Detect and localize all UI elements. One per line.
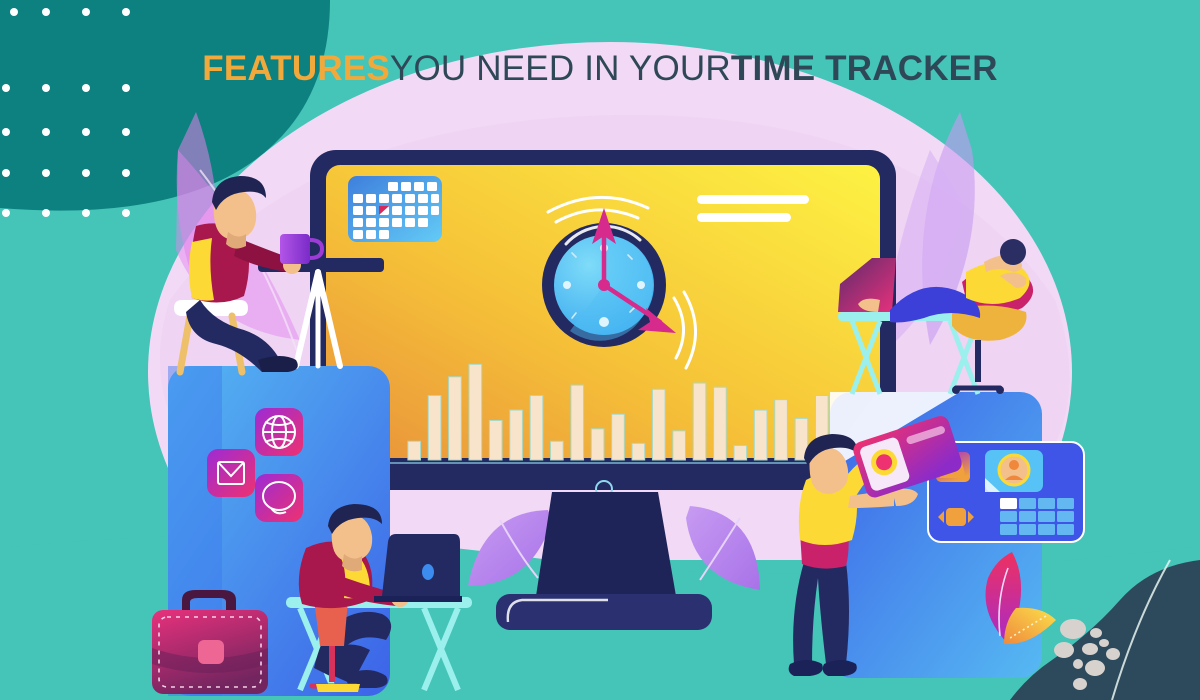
top-band-teal	[330, 0, 1200, 20]
chart-bar	[775, 400, 788, 460]
illustration-canvas: FEATURES YOU NEED IN YOUR TIME TRACKER	[0, 0, 1200, 700]
relax-person-head	[1000, 239, 1026, 265]
title-part-time-tracker: TIME TRACKER	[731, 44, 998, 94]
briefcase-clasp	[198, 640, 224, 664]
monitor-neck	[536, 492, 676, 596]
app-icon-chat[interactable]	[255, 474, 303, 522]
chart-bar	[693, 383, 706, 460]
page-title: FEATURES YOU NEED IN YOUR TIME TRACKER	[0, 44, 1200, 94]
chart-bar	[714, 387, 727, 460]
chart-bar	[571, 385, 584, 460]
chart-bar	[754, 410, 767, 460]
chart-bar	[612, 414, 625, 460]
app-icon-globe[interactable]	[255, 408, 303, 456]
coffee-person-shirt-accent	[189, 238, 214, 301]
title-part-middle: YOU NEED IN YOUR	[390, 44, 731, 94]
chart-bar	[652, 389, 665, 460]
chart-bar	[591, 429, 604, 460]
chart-bar	[551, 441, 564, 460]
app-icon-mail[interactable]	[207, 449, 255, 497]
chart-bar	[632, 443, 645, 460]
coffee-person-shoe	[258, 356, 298, 372]
chart-bar	[428, 396, 441, 460]
chart-bar	[510, 410, 523, 460]
chart-bar	[673, 431, 686, 460]
chart-bar	[530, 396, 543, 460]
chart-bar	[489, 420, 502, 460]
chart-bar	[734, 445, 747, 460]
illustration-artwork	[0, 0, 1200, 700]
clock-center-pin	[598, 279, 610, 291]
chart-bar	[469, 364, 482, 460]
title-part-features: FEATURES	[202, 44, 390, 94]
calendar-widget[interactable]	[348, 176, 442, 242]
chart-bar	[408, 441, 421, 460]
chart-bar	[449, 377, 462, 460]
laptop-foot-rest	[316, 684, 360, 692]
